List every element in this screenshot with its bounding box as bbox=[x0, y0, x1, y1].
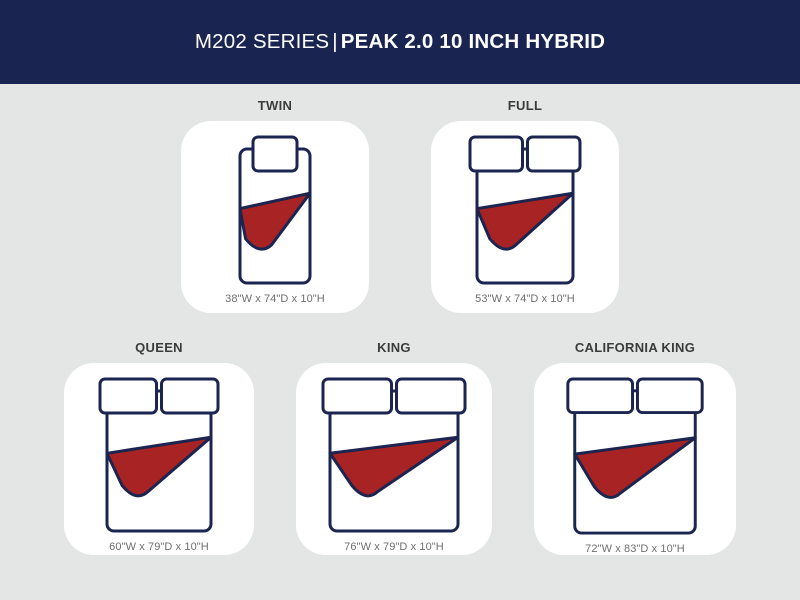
bed-illustration-queen bbox=[93, 377, 225, 537]
page-header: M202 SERIES|PEAK 2.0 10 INCH HYBRID bbox=[0, 0, 800, 84]
size-card-queen[interactable]: 60"W x 79"D x 10"H bbox=[64, 363, 254, 555]
page-title: M202 SERIES|PEAK 2.0 10 INCH HYBRID bbox=[195, 30, 605, 54]
model-label: PEAK 2.0 10 INCH HYBRID bbox=[341, 30, 605, 53]
series-label: M202 SERIES bbox=[195, 30, 329, 53]
size-cell-california-king[interactable]: CALIFORNIA KING 72"W x 83"D x 10"H bbox=[534, 340, 736, 555]
dimensions-king: 76"W x 79"D x 10"H bbox=[344, 541, 444, 553]
size-row-2: QUEEN 60"W x 79"D x 10"HKING 76"W x 79"D… bbox=[0, 340, 800, 555]
size-label-twin: TWIN bbox=[258, 98, 292, 113]
dimensions-queen: 60"W x 79"D x 10"H bbox=[109, 541, 209, 553]
size-label-king: KING bbox=[377, 340, 411, 355]
size-cell-full[interactable]: FULL 53"W x 74"D x 10"H bbox=[431, 98, 619, 313]
dimensions-california-king: 72"W x 83"D x 10"H bbox=[585, 543, 685, 555]
size-card-twin[interactable]: 38"W x 74"D x 10"H bbox=[181, 121, 369, 313]
bed-illustration-full bbox=[463, 135, 587, 289]
dimensions-twin: 38"W x 74"D x 10"H bbox=[225, 293, 325, 305]
size-card-full[interactable]: 53"W x 74"D x 10"H bbox=[431, 121, 619, 313]
size-card-king[interactable]: 76"W x 79"D x 10"H bbox=[296, 363, 492, 555]
dimensions-full: 53"W x 74"D x 10"H bbox=[475, 293, 575, 305]
size-grid: TWIN 38"W x 74"D x 10"HFULL 53"W x 74"D … bbox=[0, 84, 800, 600]
size-row-1: TWIN 38"W x 74"D x 10"HFULL 53"W x 74"D … bbox=[0, 98, 800, 313]
bed-illustration-california-king bbox=[560, 377, 710, 539]
bed-illustration-twin bbox=[226, 135, 324, 289]
size-label-california-king: CALIFORNIA KING bbox=[575, 340, 695, 355]
size-cell-twin[interactable]: TWIN 38"W x 74"D x 10"H bbox=[181, 98, 369, 313]
mattress-size-chart: M202 SERIES|PEAK 2.0 10 INCH HYBRID TWIN… bbox=[0, 0, 800, 600]
size-card-california-king[interactable]: 72"W x 83"D x 10"H bbox=[534, 363, 736, 555]
size-label-full: FULL bbox=[508, 98, 542, 113]
size-label-queen: QUEEN bbox=[135, 340, 183, 355]
bed-illustration-king bbox=[316, 377, 472, 537]
size-cell-king[interactable]: KING 76"W x 79"D x 10"H bbox=[296, 340, 492, 555]
size-cell-queen[interactable]: QUEEN 60"W x 79"D x 10"H bbox=[64, 340, 254, 555]
title-separator: | bbox=[329, 30, 341, 53]
